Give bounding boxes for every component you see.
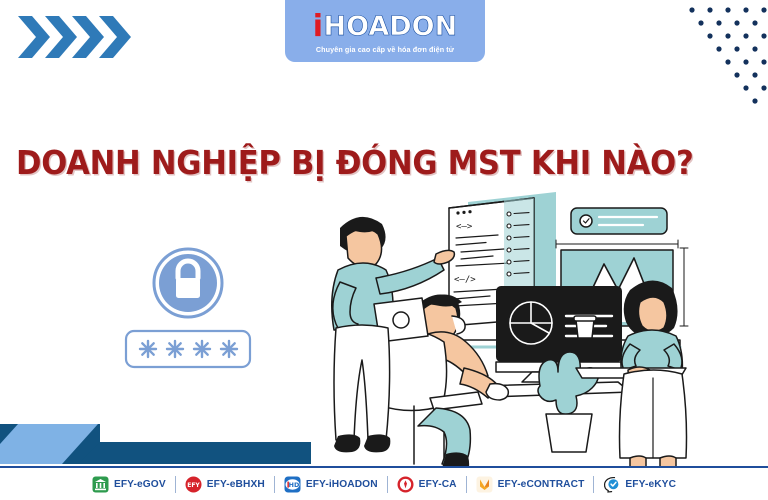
svg-text:EFY: EFY: [187, 482, 200, 489]
office-team-working-illustration: <—> <—/>: [318, 186, 768, 466]
efy-seal-icon: EFY: [185, 476, 202, 493]
footer-item-efy-ebhxh[interactable]: EFY EFY-eBHXH: [176, 476, 274, 493]
footer-label-efy-econtract: EFY-eCONTRACT: [498, 479, 585, 490]
footer-label-efy-egov: EFY-eGOV: [114, 479, 166, 490]
footer-label-efy-ekyc: EFY-eKYC: [625, 479, 676, 490]
dot-grid-triangle-icon: [640, 0, 768, 112]
chevrons-right-icon: [16, 14, 136, 60]
logo-tagline: Chuyên gia cao cấp về hóa đơn điện tử: [316, 45, 454, 54]
bottom-left-decor-bar: [0, 424, 311, 464]
svg-text:<—>: <—>: [456, 222, 473, 232]
logo-i-letter: i: [313, 12, 323, 42]
footer-label-efy-ihoadon: EFY-iHOADON: [306, 479, 378, 490]
footer-item-efy-egov[interactable]: EFY-eGOV: [83, 476, 175, 493]
padlock-icon: [154, 249, 222, 317]
ca-token-icon: [397, 476, 414, 493]
brand-logo[interactable]: i HOADON Chuyên gia cao cấp về hóa đơn đ…: [285, 0, 485, 62]
bank-building-icon: [92, 476, 109, 493]
footer-label-efy-ca: EFY-CA: [419, 479, 457, 490]
coffee-cup: [574, 316, 596, 338]
password-lock-graphic: [118, 245, 258, 375]
notification-card: [571, 208, 667, 234]
potted-cactus: [538, 352, 598, 452]
logo-wordmark: i HOADON: [313, 11, 457, 41]
footer-label-efy-ebhxh: EFY-eBHXH: [207, 479, 265, 490]
svg-text:HD: HD: [288, 481, 299, 489]
ihd-badge-icon: HD: [284, 476, 301, 493]
svg-text:<—/>: <—/>: [454, 275, 476, 285]
logo-hoadon-text: HOADON: [324, 13, 458, 40]
footer-item-efy-ihoadon[interactable]: HD EFY-iHOADON: [275, 476, 387, 493]
password-field: [126, 331, 250, 367]
product-footer-bar: EFY-eGOV EFY EFY-eBHXH HD EF: [0, 466, 768, 500]
footer-item-efy-ekyc[interactable]: EFY-eKYC: [594, 476, 685, 493]
page-title: DOANH NGHIỆP BỊ ĐÓNG MST KHI NÀO?: [16, 146, 693, 181]
banner-canvas: i HOADON Chuyên gia cao cấp về hóa đơn đ…: [0, 0, 768, 500]
face-check-icon: [603, 476, 620, 493]
signature-pen-icon: [476, 476, 493, 493]
footer-item-efy-econtract[interactable]: EFY-eCONTRACT: [467, 476, 594, 493]
footer-item-efy-ca[interactable]: EFY-CA: [388, 476, 466, 493]
